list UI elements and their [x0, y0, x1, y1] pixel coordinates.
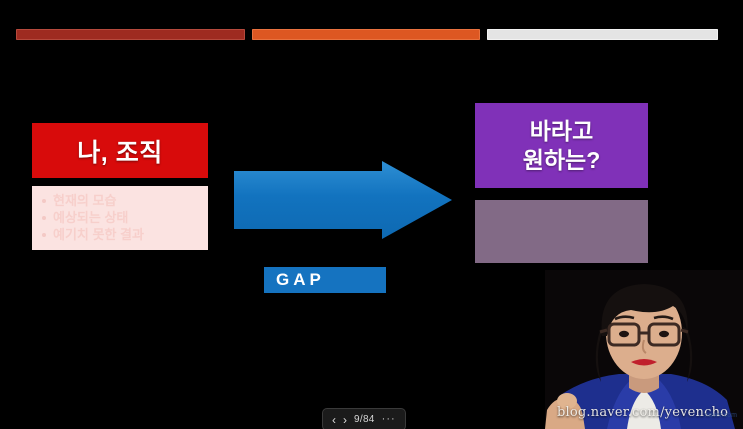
gap-label-box: GAP	[264, 267, 386, 293]
more-options-icon[interactable]: ···	[382, 414, 396, 425]
right-title-line-1: 바라고	[530, 117, 593, 145]
gap-label: GAP	[264, 270, 325, 290]
bullet-row: 예기치 못한 결과	[32, 226, 208, 243]
slide-navigation-bar[interactable]: ‹ › 9/84 ···	[322, 408, 406, 429]
progress-segment-1[interactable]	[16, 29, 245, 40]
right-title-line-2: 원하는?	[523, 146, 601, 174]
right-content-panel	[475, 200, 648, 263]
presenter-watermark: blog.naver.com/yevencho	[557, 405, 728, 420]
bullet-label-2: 예상되는 상태	[53, 211, 128, 224]
bullet-row: 현재의 모습	[32, 192, 208, 209]
bullet-dot-icon	[42, 199, 46, 203]
next-slide-icon[interactable]: ›	[343, 414, 347, 426]
bullet-row: 예상되는 상태	[32, 209, 208, 226]
prev-slide-icon[interactable]: ‹	[332, 414, 336, 426]
bullet-label-1: 현재의 모습	[53, 194, 116, 207]
right-title-box: 바라고 원하는?	[475, 103, 648, 188]
left-bullets-box: 현재의 모습 예상되는 상태 예기치 못한 결과	[32, 186, 208, 250]
bullet-dot-icon	[42, 216, 46, 220]
right-arrow-icon	[232, 159, 454, 241]
video-player-stage: 나, 조직 현재의 모습 예상되는 상태 예기치 못한 결과	[0, 0, 743, 429]
left-title-label: 나, 조직	[77, 133, 162, 169]
bullet-dot-icon	[42, 233, 46, 237]
left-title-box: 나, 조직	[32, 123, 208, 178]
presenter-watermark-small: naver.com	[705, 412, 737, 419]
progress-segment-2[interactable]	[252, 29, 480, 40]
progress-segment-3[interactable]	[487, 29, 718, 40]
bullet-label-3: 예기치 못한 결과	[53, 228, 144, 241]
slide-counter: 9/84	[354, 415, 375, 425]
presenter-video-overlay[interactable]: blog.naver.com/yevencho naver.com	[545, 270, 743, 429]
